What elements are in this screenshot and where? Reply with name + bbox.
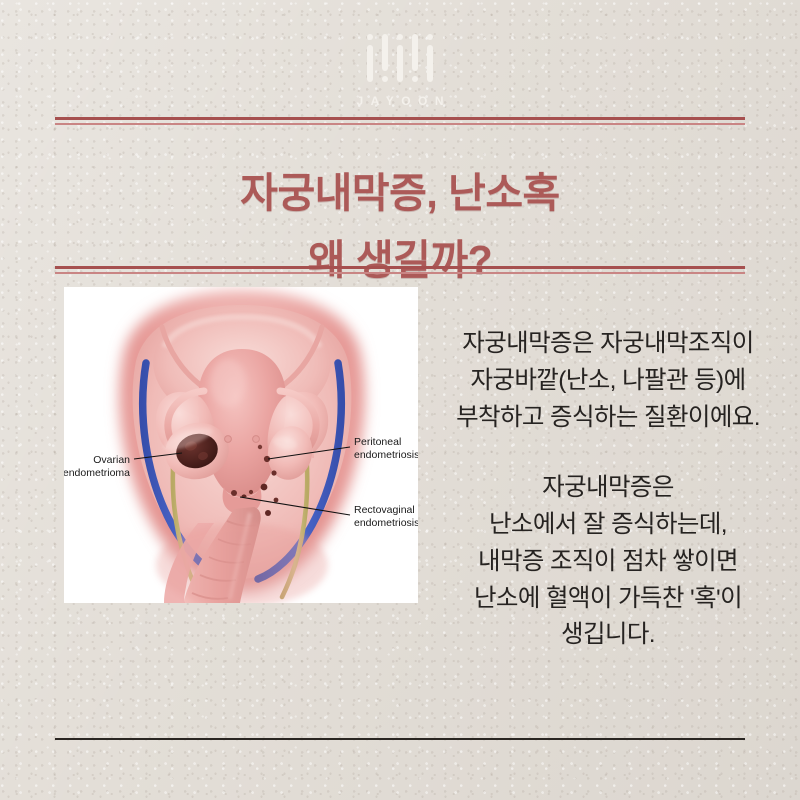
paragraph-cyst-formation-line-4: 난소에 혈액이 가득찬 '혹'이 <box>424 581 792 618</box>
label-ovarian-endometrioma-line-1: Ovarian <box>93 454 130 466</box>
paragraph-cyst-formation-line-2: 난소에서 잘 증식하는데, <box>424 507 792 544</box>
divider-top <box>55 117 745 125</box>
logo-glyph-5 <box>427 34 433 82</box>
paragraph-definition-line-3: 부착하고 증식하는 질환이에요. <box>424 400 792 437</box>
logo-glyph-3 <box>397 34 403 82</box>
label-rectovaginal-endometriosis-line-1: Rectovaginal <box>354 504 415 516</box>
divider-bottom <box>55 738 745 740</box>
jayoon-bar-dot-logo-icon <box>367 34 433 82</box>
paragraph-cyst-formation-line-3: 내막증 조직이 점차 쌓이면 <box>424 544 792 581</box>
body-copy: 자궁내막증은 자궁내막조직이 자궁바깥(난소, 나팔관 등)에 부착하고 증식하… <box>424 326 792 654</box>
page-title-line-1: 자궁내막증, 난소혹 <box>0 160 800 226</box>
paragraph-definition: 자궁내막증은 자궁내막조직이 자궁바깥(난소, 나팔관 등)에 부착하고 증식하… <box>424 326 792 436</box>
page-title-line-2: 왜 생길까? <box>0 227 800 293</box>
divider-top-line-thin <box>55 123 745 125</box>
label-rectovaginal-endometriosis-line-2: endometriosis <box>354 517 418 529</box>
logo-glyph-4 <box>412 34 418 82</box>
paragraph-definition-line-1: 자궁내막증은 자궁내막조직이 <box>424 326 792 363</box>
anatomy-illustration-panel: Ovarian endometrioma Peritoneal endometr… <box>64 287 418 603</box>
card-stage: JAYOON 자궁내막증, 난소혹 왜 생길까? <box>0 0 800 800</box>
divider-middle-line-thin <box>55 272 745 274</box>
paragraph-cyst-formation-line-1: 자궁내막증은 <box>424 470 792 507</box>
brand-logo: JAYOON <box>0 34 800 108</box>
label-ovarian-endometrioma-line-2: endometrioma <box>64 467 130 479</box>
paragraph-cyst-formation-line-5: 생깁니다. <box>424 617 792 654</box>
paragraph-cyst-formation: 자궁내막증은 난소에서 잘 증식하는데, 내막증 조직이 점차 쌓이면 난소에 … <box>424 470 792 654</box>
label-peritoneal-endometriosis-line-2: endometriosis <box>354 449 418 461</box>
pelvis-anatomy-illustration: Ovarian endometrioma Peritoneal endometr… <box>64 287 418 603</box>
brand-wordmark: JAYOON <box>349 94 451 108</box>
paragraph-definition-line-2: 자궁바깥(난소, 나팔관 등)에 <box>424 363 792 400</box>
divider-middle <box>55 266 745 274</box>
logo-glyph-2 <box>382 34 388 82</box>
logo-glyph-1 <box>367 34 373 82</box>
label-peritoneal-endometriosis-line-1: Peritoneal <box>354 436 401 448</box>
